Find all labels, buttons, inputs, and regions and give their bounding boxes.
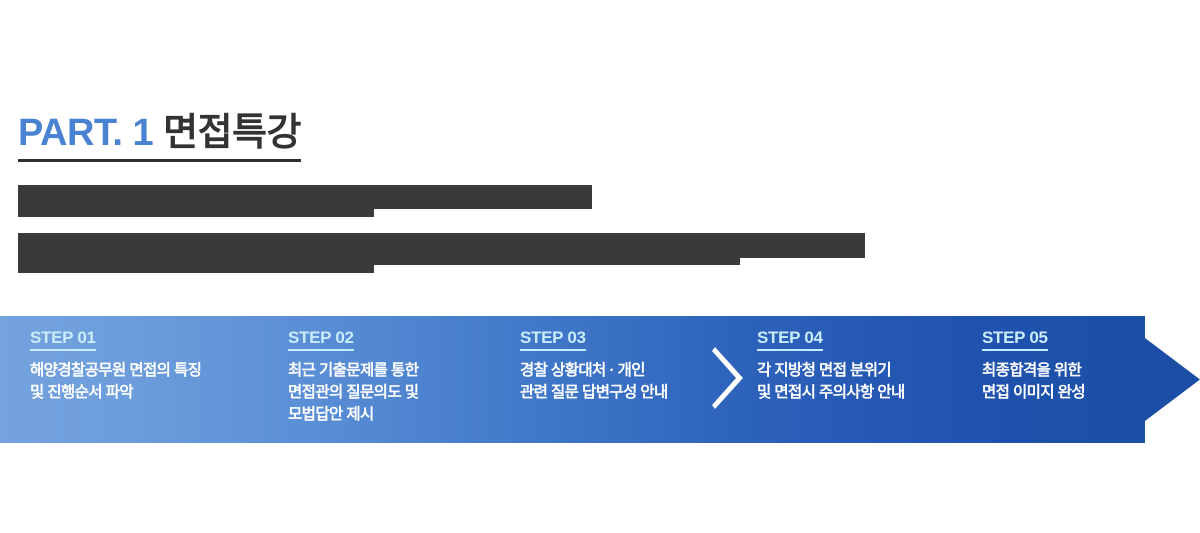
step-description-line: 경찰 상황대처 · 개인 <box>520 360 668 382</box>
step-label-3: STEP 03 <box>520 328 586 351</box>
step-description-line: 해양경찰공무원 면접의 특징 <box>30 360 201 382</box>
step-description-line: 관련 질문 답변구성 안내 <box>520 382 668 404</box>
page-title-part-subject: 면접특강 <box>163 112 301 154</box>
step-description-3: 경찰 상황대처 · 개인 관련 질문 답변구성 안내 <box>520 360 668 404</box>
redacted-line <box>0 233 1000 273</box>
step-item-4: STEP 04 각 지방청 면접 분위기 및 면접시 주의사항 안내 <box>757 316 977 443</box>
step-description-line: 면접 이미지 완성 <box>982 382 1085 404</box>
step-label-1: STEP 01 <box>30 328 96 351</box>
step-item-1: STEP 01 해양경찰공무원 면접의 특징 및 진행순서 파악 <box>30 316 270 443</box>
step-label-4: STEP 04 <box>757 328 823 351</box>
redacted-line <box>0 185 900 217</box>
step-banner: STEP 01 해양경찰공무원 면접의 특징 및 진행순서 파악 STEP 02… <box>0 316 1200 443</box>
step-description-line: 각 지방청 면접 분위기 <box>757 360 905 382</box>
redaction-bar <box>18 233 374 273</box>
chevron-right-icon <box>712 347 746 409</box>
step-label-5: STEP 05 <box>982 328 1048 351</box>
step-description-line: 모법답안 제시 <box>288 404 418 426</box>
step-description-5: 최종합격을 위한 면접 이미지 완성 <box>982 360 1085 404</box>
step-description-1: 해양경찰공무원 면접의 특징 및 진행순서 파악 <box>30 360 201 404</box>
step-item-5: STEP 05 최종합격을 위한 면접 이미지 완성 <box>982 316 1162 443</box>
page-title-part-label: PART. 1 <box>18 112 153 154</box>
step-description-4: 각 지방청 면접 분위기 및 면접시 주의사항 안내 <box>757 360 905 404</box>
step-item-3: STEP 03 경찰 상황대처 · 개인 관련 질문 답변구성 안내 <box>520 316 720 443</box>
step-item-2: STEP 02 최근 기출문제를 통한 면접관의 질문의도 및 모법답안 제시 <box>288 316 508 443</box>
title-block: PART. 1면접특강 <box>18 109 658 167</box>
redaction-bar <box>18 185 374 217</box>
redacted-paragraph <box>0 185 1200 285</box>
page-title: PART. 1면접특강 <box>18 109 301 162</box>
step-label-2: STEP 02 <box>288 328 354 351</box>
step-description-line: 최근 기출문제를 통한 <box>288 360 418 382</box>
step-description-line: 및 진행순서 파악 <box>30 382 201 404</box>
step-description-line: 및 면접시 주의사항 안내 <box>757 382 905 404</box>
step-description-line: 최종합격을 위한 <box>982 360 1085 382</box>
step-description-line: 면접관의 질문의도 및 <box>288 382 418 404</box>
step-description-2: 최근 기출문제를 통한 면접관의 질문의도 및 모법답안 제시 <box>288 360 418 426</box>
